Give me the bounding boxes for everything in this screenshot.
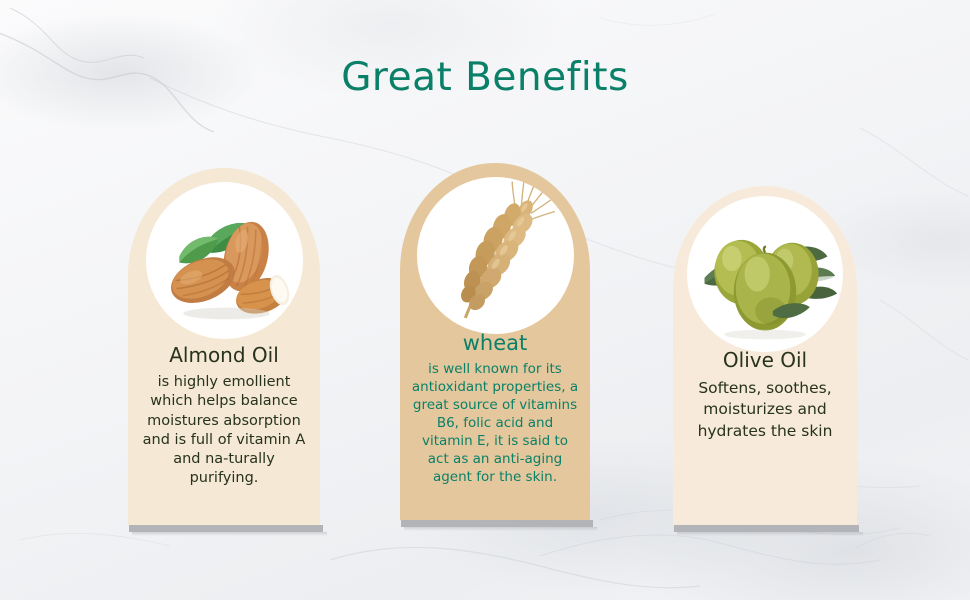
card-surface: Almond Oil is highly emollient which hel… (128, 168, 320, 525)
card-heading: Almond Oil (138, 343, 310, 367)
card-description: is highly emollient which helps balance … (138, 373, 310, 489)
card-heading: Olive Oil (683, 348, 847, 372)
wheat-stalk-image (417, 177, 574, 334)
card-description: is well known for its antioxidant proper… (410, 361, 580, 487)
card-base-shadow-wheat (401, 520, 593, 527)
card-surface: Olive Oil Softens, soothes, moisturizes … (673, 186, 857, 525)
card-heading: wheat (410, 331, 580, 355)
card-base-shadow-almond (129, 525, 323, 532)
card-text-block: Olive Oil Softens, soothes, moisturizes … (673, 348, 857, 442)
benefit-card-almond: Almond Oil is highly emollient which hel… (128, 168, 320, 525)
benefit-card-wheat: wheat is well known for its antioxidant … (400, 163, 590, 520)
card-description: Softens, soothes, moisturizes and hydrat… (683, 378, 847, 442)
card-surface: wheat is well known for its antioxidant … (400, 163, 590, 520)
card-text-block: wheat is well known for its antioxidant … (400, 331, 590, 487)
card-text-block: Almond Oil is highly emollient which hel… (128, 343, 320, 489)
almonds-with-leaves-image (146, 182, 303, 339)
benefit-card-olive: Olive Oil Softens, soothes, moisturizes … (673, 186, 857, 525)
card-base-shadow-olive (674, 525, 859, 532)
page-title: Great Benefits (0, 55, 970, 100)
green-olives-with-leaves-image (687, 196, 843, 352)
